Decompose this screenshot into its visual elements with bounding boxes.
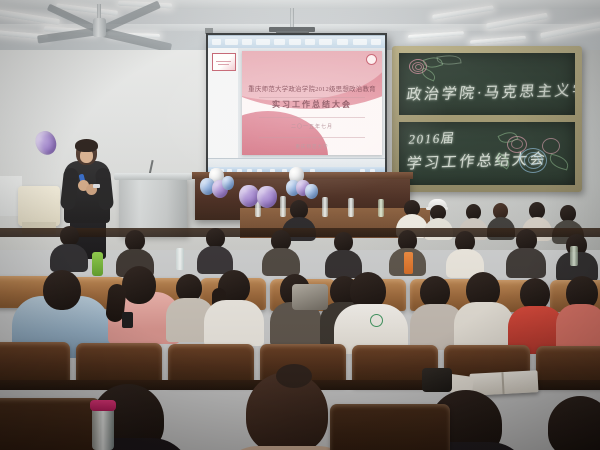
slide-footer: 重庆师范大学 [242,144,382,150]
blackboard: 政治学院·马克思主义学院 2016届 学习工作总结大会 [392,46,582,192]
water-bottle-foreground [92,406,114,450]
audience-row-3 [0,262,600,352]
presentation-slide: 重庆师范大学政治学院2012级思想政治教育 实习工作总结大会 二〇一五年七月 重… [242,51,382,155]
attendee-head [60,226,79,246]
polo-badge-icon [370,314,383,327]
blackboard-panel-top: 政治学院·马克思主义学院 [399,53,575,115]
attendee-head [43,270,81,310]
projection-screen: 重庆师范大学政治学院2012级思想政治教育 实习工作总结大会 二〇一五年七月 重… [206,33,387,177]
balloon-blue-cluster-left-2 [222,176,234,190]
university-seal-icon [366,54,377,65]
lectern-top [114,173,192,180]
attendee-head [125,230,145,251]
blackboard-line-2: 2016届 [408,127,457,148]
fluorescent-tube-light [408,31,464,39]
fluorescent-tube-light [470,36,526,45]
chalk-leaf-icon [420,68,437,82]
chalk-leaf-icon [548,153,571,170]
bottle-cap-icon [90,400,116,411]
lecture-seat-foreground [0,398,100,450]
slide-thumbnail-pane[interactable] [208,48,239,159]
blackboard-panel-bottom: 2016届 学习工作总结大会 [399,122,575,185]
wristwatch [93,184,100,188]
attendee-white-shirt [204,300,264,346]
slide-stage: 重庆师范大学政治学院2012级思想政治教育 实习工作总结大会 二〇一五年七月 重… [238,48,385,159]
slide-title-line-2: 实习工作总结大会 [242,99,382,110]
slide-date-line: 二〇一五年七月 [242,123,382,130]
projector-mount-rod [290,8,294,29]
attendee-head [122,266,156,304]
lecture-seat-foreground [330,404,450,450]
ceiling-fan-motor [93,18,106,37]
smartphone [122,312,133,328]
attendee-head [334,232,353,252]
attendee-head [548,396,600,450]
screen-surface: 重庆师范大学政治学院2012级思想政治教育 实习工作总结大会 二〇一五年七月 重… [208,35,385,175]
slide-title-line-1: 重庆师范大学政治学院2012级思想政治教育 [242,83,382,93]
chalk-rose-icon [528,155,539,165]
slide-thumbnail-1[interactable] [212,53,236,71]
powerpoint-ribbon[interactable] [208,35,385,48]
chalk-rose-icon [415,64,422,70]
chalk-rose-icon [542,138,560,154]
presenter-hair [75,139,98,152]
attendee-head [206,228,225,248]
blackboard-line-1: 政治学院·马克思主义学院 [405,78,575,104]
lecture-hall-photo: 政治学院·马克思主义学院 2016届 学习工作总结大会 [0,0,600,450]
handbag [292,284,328,310]
hair-bun [276,364,312,388]
